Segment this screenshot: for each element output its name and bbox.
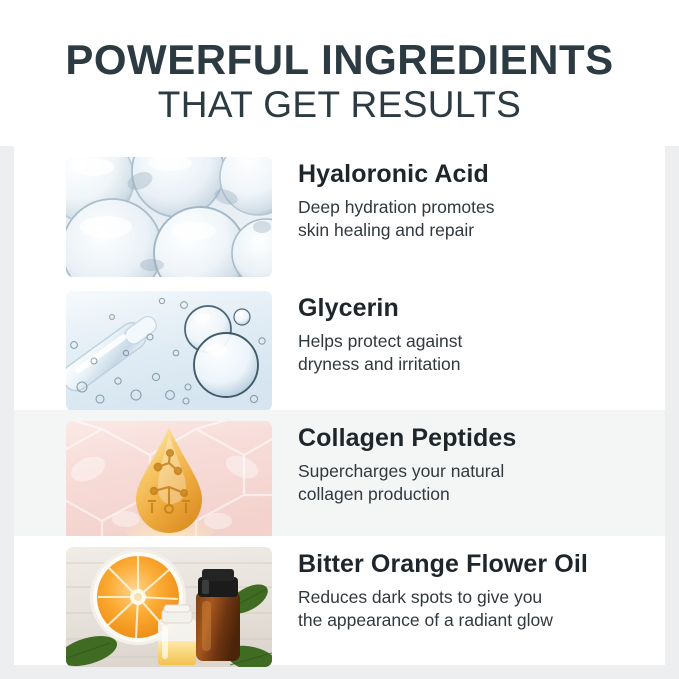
ingredient-name: Glycerin bbox=[298, 294, 665, 323]
ingredient-copy: Glycerin Helps protect against dryness a… bbox=[298, 294, 665, 377]
ingredient-name: Collagen Peptides bbox=[298, 424, 665, 453]
ingredient-description: Helps protect against dryness and irrita… bbox=[298, 330, 665, 377]
ingredient-name: Hyaloronic Acid bbox=[298, 160, 665, 189]
golden-droplet-photo bbox=[66, 421, 272, 541]
ingredient-description: Reduces dark spots to give you the appea… bbox=[298, 586, 665, 633]
ingredient-description: Deep hydration promotes skin healing and… bbox=[298, 196, 665, 243]
bubbles-photo bbox=[66, 157, 272, 277]
list-item: Collagen Peptides Supercharges your natu… bbox=[14, 410, 665, 536]
header: POWERFUL INGREDIENTS THAT GET RESULTS bbox=[0, 0, 679, 125]
dropper-liquid-photo bbox=[66, 291, 272, 411]
ingredient-copy: Collagen Peptides Supercharges your natu… bbox=[298, 424, 665, 507]
page-title: POWERFUL INGREDIENTS bbox=[0, 38, 679, 82]
page-subtitle: THAT GET RESULTS bbox=[0, 84, 679, 125]
ingredient-copy: Hyaloronic Acid Deep hydration promotes … bbox=[298, 160, 665, 243]
ingredient-copy: Bitter Orange Flower Oil Reduces dark sp… bbox=[298, 550, 665, 633]
ingredient-name: Bitter Orange Flower Oil bbox=[298, 550, 665, 579]
ingredients-infographic: POWERFUL INGREDIENTS THAT GET RESULTS bbox=[0, 0, 679, 679]
ingredient-list: Hyaloronic Acid Deep hydration promotes … bbox=[0, 146, 679, 679]
list-item: Bitter Orange Flower Oil Reduces dark sp… bbox=[14, 536, 665, 665]
ingredient-description: Supercharges your natural collagen produ… bbox=[298, 460, 665, 507]
list-item: Hyaloronic Acid Deep hydration promotes … bbox=[14, 146, 665, 280]
list-item: Glycerin Helps protect against dryness a… bbox=[14, 280, 665, 410]
orange-oil-bottle-photo bbox=[66, 547, 272, 667]
